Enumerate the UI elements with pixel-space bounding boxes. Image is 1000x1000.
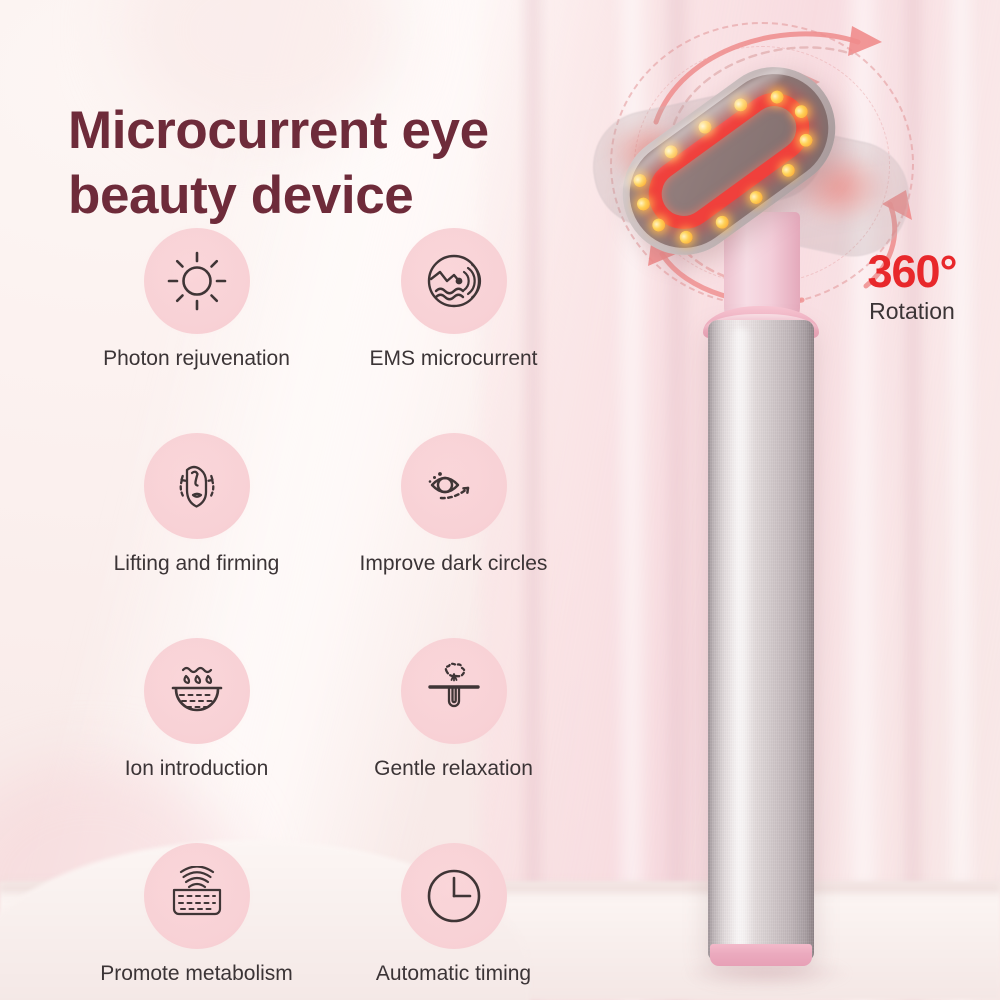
feature-row: Lifting and firming Improve dark circles xyxy=(64,433,594,576)
skin-waves-icon xyxy=(165,866,229,926)
pore-steam-icon xyxy=(422,660,486,722)
feature-label: Photon rejuvenation xyxy=(103,347,290,371)
feature-label: Ion introduction xyxy=(125,757,269,781)
product-device: 360° Rotation xyxy=(540,0,1000,1000)
row-spacer xyxy=(64,576,594,638)
icon-badge xyxy=(144,228,250,334)
feature-label: Gentle relaxation xyxy=(374,757,533,781)
rotation-badge: 360° Rotation xyxy=(842,249,982,325)
device-head xyxy=(598,43,859,279)
icon-badge xyxy=(144,638,250,744)
feature-label: Automatic timing xyxy=(376,962,531,986)
feature-ion-introduction[interactable]: Ion introduction xyxy=(64,638,329,781)
feature-list: Photon rejuvenation EMS microcurr xyxy=(64,228,594,986)
feature-row: Photon rejuvenation EMS microcurr xyxy=(64,228,594,371)
eye-icon xyxy=(422,454,486,518)
feature-row: Ion introduction Gentle relaxation xyxy=(64,638,594,781)
feature-label: Promote metabolism xyxy=(100,962,293,986)
led-dot xyxy=(677,228,695,246)
handle-texture xyxy=(708,320,814,960)
face-lift-icon xyxy=(165,454,229,518)
clock-icon xyxy=(423,865,485,927)
ems-wave-icon xyxy=(423,250,485,312)
icon-badge xyxy=(401,433,507,539)
feature-label: Lifting and firming xyxy=(114,552,280,576)
led-dot xyxy=(747,188,765,206)
icon-badge xyxy=(401,638,507,744)
ion-droplet-icon xyxy=(165,661,229,721)
rotation-label: Rotation xyxy=(842,298,982,325)
feature-lifting-and-firming[interactable]: Lifting and firming xyxy=(64,433,329,576)
icon-badge xyxy=(401,843,507,949)
feature-row: Promote metabolism Automatic timing xyxy=(64,843,594,986)
icon-badge xyxy=(401,228,507,334)
device-head-assembly[interactable] xyxy=(604,56,854,266)
feature-photon-rejuvenation[interactable]: Photon rejuvenation xyxy=(64,228,329,371)
led-dot xyxy=(713,213,731,231)
device-handle[interactable] xyxy=(708,320,814,960)
device-base-cap xyxy=(710,944,812,966)
row-spacer xyxy=(64,371,594,433)
icon-badge xyxy=(144,843,250,949)
handle-highlight xyxy=(728,328,754,952)
product-infographic: Microcurrent eye beauty device xyxy=(0,0,1000,1000)
icon-badge xyxy=(144,433,250,539)
row-spacer xyxy=(64,781,594,843)
feature-label: Improve dark circles xyxy=(360,552,548,576)
feature-promote-metabolism[interactable]: Promote metabolism xyxy=(64,843,329,986)
feature-label: EMS microcurrent xyxy=(369,347,537,371)
rotation-degrees: 360° xyxy=(842,249,982,294)
sun-icon xyxy=(166,250,228,312)
